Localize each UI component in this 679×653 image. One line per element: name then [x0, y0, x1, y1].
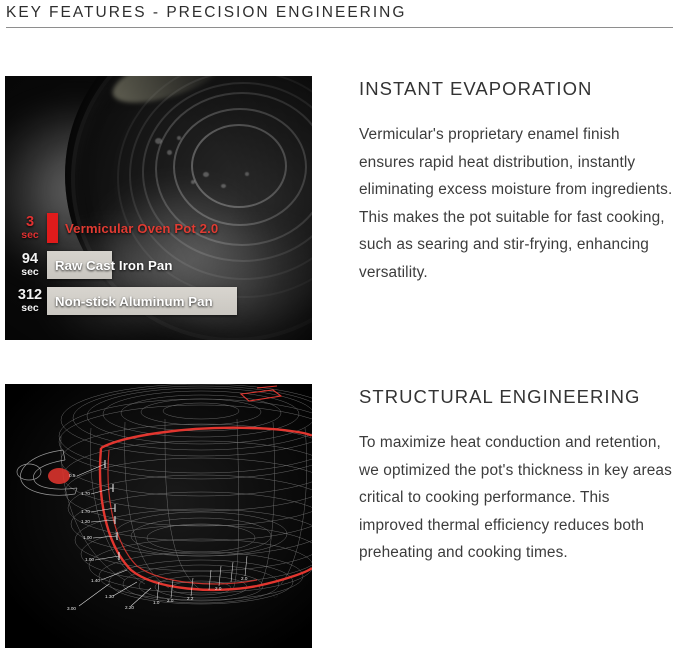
bar-track: Raw Cast Iron Pan: [47, 251, 303, 279]
cad-wireframe-svg: 0.5 1.70 1.70 1.20 1.00 1.00 1.40 1.30 2…: [5, 384, 312, 648]
bar-value-unit: sec: [13, 267, 47, 278]
dimension-label: 1.00: [85, 557, 94, 562]
bar-row: 94 sec Raw Cast Iron Pan: [13, 251, 303, 279]
dimension-label: 1.0: [153, 600, 160, 605]
bar-row: 312 sec Non-stick Aluminum Pan: [13, 287, 303, 315]
bar-value-group: 312 sec: [13, 288, 47, 313]
dimension-label: 1.00: [83, 535, 92, 540]
steaming-pot-photo: 3 sec Vermicular Oven Pot 2.0 94 sec Raw…: [5, 76, 312, 340]
bar-value-unit: sec: [13, 303, 47, 314]
feature-body: To maximize heat conduction and retentio…: [359, 429, 674, 567]
cad-canvas: 0.5 1.70 1.70 1.20 1.00 1.00 1.40 1.30 2…: [5, 384, 312, 648]
page-title: KEY FEATURES - PRECISION ENGINEERING: [6, 0, 673, 23]
dimension-label: 0.5: [69, 473, 76, 478]
feature-body: Vermicular's proprietary enamel finish e…: [359, 121, 674, 286]
dimension-label: 3.00: [67, 606, 76, 611]
bar-row: 3 sec Vermicular Oven Pot 2.0: [13, 213, 303, 243]
bar-value-number: 3: [13, 215, 47, 230]
bar-category-label: Non-stick Aluminum Pan: [55, 287, 213, 315]
dimension-label: 1.70: [81, 509, 90, 514]
dimension-label: 2.0: [215, 586, 222, 591]
dimension-label: 1.20: [81, 519, 90, 524]
feature-copy: STRUCTURAL ENGINEERING To maximize heat …: [359, 384, 674, 648]
dimension-label: 1.40: [91, 578, 100, 583]
feature-block-instant-evaporation: 3 sec Vermicular Oven Pot 2.0 94 sec Raw…: [5, 76, 674, 340]
bar-value-group: 94 sec: [13, 252, 47, 277]
bar-value-unit: sec: [13, 230, 47, 241]
dimension-label: 2.2: [187, 596, 194, 601]
handle-rivet-accent: [48, 468, 70, 484]
header-divider: [6, 27, 673, 28]
feature-title: STRUCTURAL ENGINEERING: [359, 386, 674, 408]
dimension-label: 2.0: [241, 576, 248, 581]
dimension-label: 2.20: [125, 605, 134, 610]
bar-fill: [47, 213, 58, 243]
bar-value-number: 94: [13, 252, 47, 267]
bar-category-label: Vermicular Oven Pot 2.0: [65, 213, 218, 243]
bar-value-group: 3 sec: [13, 215, 47, 240]
dimension-label: 1.70: [81, 491, 90, 496]
page-header: KEY FEATURES - PRECISION ENGINEERING: [6, 0, 673, 28]
feature-block-structural-engineering: 0.5 1.70 1.70 1.20 1.00 1.00 1.40 1.30 2…: [5, 384, 674, 648]
wireframe-watermark: ◌: [273, 591, 278, 600]
bar-value-number: 312: [13, 288, 47, 303]
feature-title: INSTANT EVAPORATION: [359, 78, 674, 100]
evaporation-bar-chart: 3 sec Vermicular Oven Pot 2.0 94 sec Raw…: [13, 213, 303, 315]
pot-wireframe-cad-diagram: 0.5 1.70 1.70 1.20 1.00 1.00 1.40 1.30 2…: [5, 384, 312, 648]
dimension-label: 2.0: [167, 598, 174, 603]
dimension-label: 1.30: [105, 594, 114, 599]
bar-track: Vermicular Oven Pot 2.0: [47, 213, 303, 243]
bar-category-label: Raw Cast Iron Pan: [55, 251, 172, 279]
feature-copy: INSTANT EVAPORATION Vermicular's proprie…: [359, 76, 674, 340]
bar-track: Non-stick Aluminum Pan: [47, 287, 303, 315]
